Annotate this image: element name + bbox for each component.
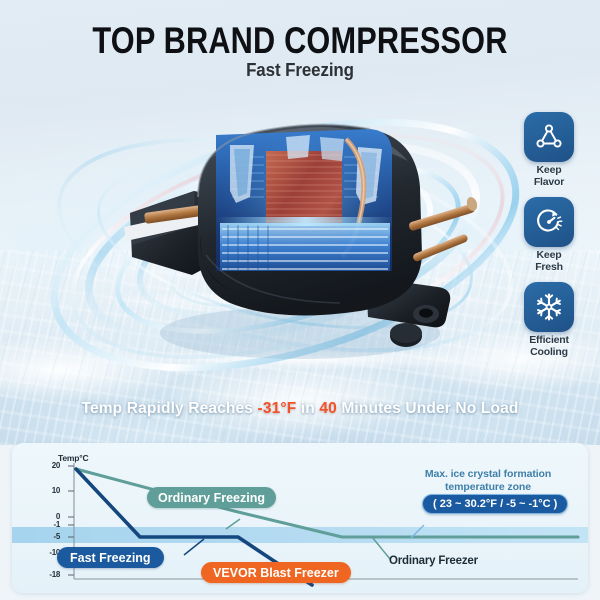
feature-badge-keep-fresh[interactable]: Keep Fresh	[510, 197, 588, 273]
y-tick--5: -5	[38, 532, 60, 541]
y-tick-20: 20	[38, 461, 60, 470]
page-title: TOP BRAND COMPRESSOR	[51, 22, 549, 59]
y-tick--1: -1	[38, 520, 60, 529]
badge-tile	[524, 282, 574, 332]
temperature-chart-card: Temp°C 20 10 0 -1 -5 -10 -18 Ordinary Fr…	[12, 443, 588, 593]
product-infographic: TOP BRAND COMPRESSOR Fast Freezing Keep …	[0, 0, 600, 600]
promo-text-part1: Temp Rapidly Reaches	[82, 400, 258, 417]
snowflake-icon	[533, 291, 565, 323]
promo-text-part2: in	[296, 400, 319, 417]
motor-core	[210, 125, 400, 275]
legend-pill-fast-freezing[interactable]: Fast Freezing	[57, 547, 164, 568]
badge-label: Keep Flavor	[510, 165, 588, 188]
gauge-icon	[534, 207, 564, 237]
promo-temperature: -31°F	[258, 400, 297, 417]
badge-tile	[524, 112, 574, 162]
promo-banner: Temp Rapidly Reaches -31°F in 40 Minutes…	[0, 400, 600, 418]
promo-minutes: 40	[319, 400, 337, 417]
compressor-cutaway	[120, 105, 480, 370]
feature-badge-list: Keep Flavor Keep Fresh	[510, 112, 588, 367]
badge-label: Keep Fresh	[510, 250, 588, 273]
promo-text-part3: Minutes Under No Load	[337, 400, 519, 417]
badge-label: Efficient Cooling	[510, 335, 588, 358]
feature-badge-keep-flavor[interactable]: Keep Flavor	[510, 112, 588, 188]
ice-crystal-band	[12, 527, 588, 543]
badge-tile	[524, 197, 574, 247]
ice-crystal-zone-range: ( 23 ~ 30.2°F / -5 ~ -1°C )	[422, 494, 568, 514]
ice-crystal-zone-title: Max. ice crystal formation temperature z…	[400, 468, 576, 493]
y-tick-10: 10	[38, 486, 60, 495]
legend-pill-ordinary-freezing[interactable]: Ordinary Freezing	[147, 487, 276, 508]
legend-pill-vevor-blast-freezer[interactable]: VEVOR Blast Freezer	[201, 562, 351, 583]
molecule-icon	[534, 122, 564, 152]
ordinary-freezer-annotation: Ordinary Freezer	[389, 555, 478, 567]
y-tick--18: -18	[38, 570, 60, 579]
page-subtitle: Fast Freezing	[18, 60, 582, 81]
feature-badge-efficient-cooling[interactable]: Efficient Cooling	[510, 282, 588, 358]
y-axis-title: Temp°C	[58, 453, 88, 463]
